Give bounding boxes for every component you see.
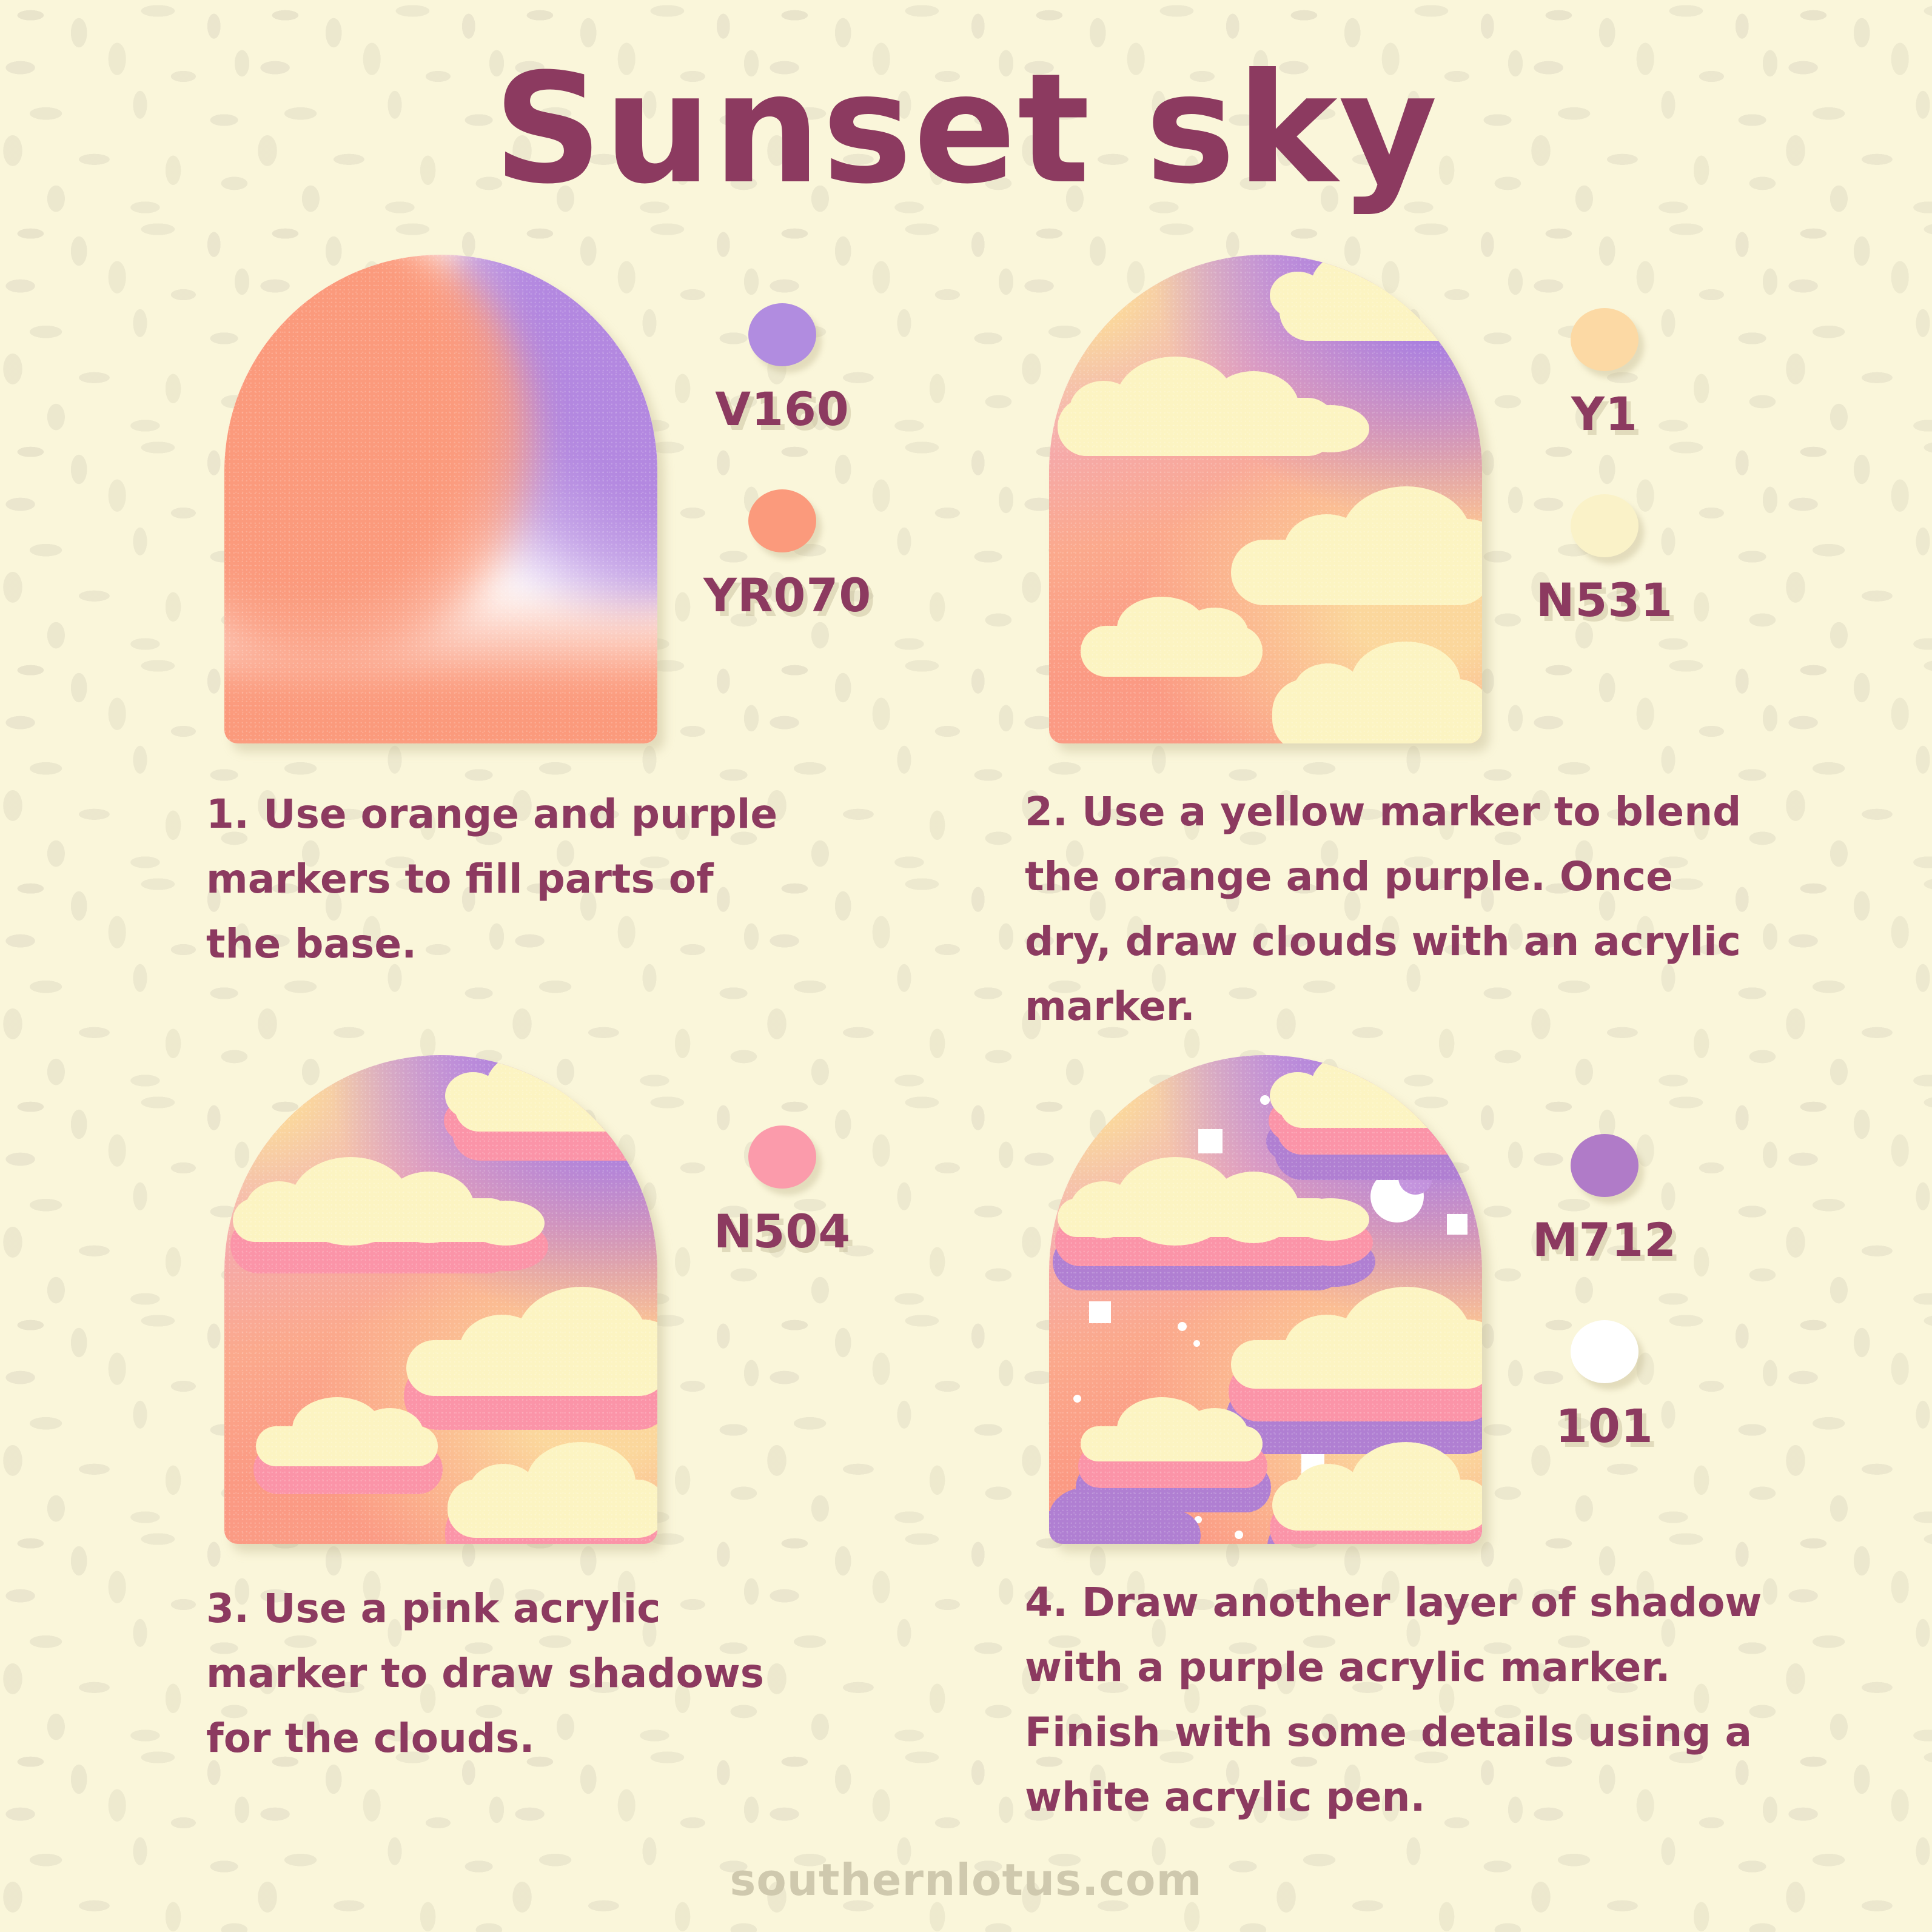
swatch-dot: [748, 303, 816, 366]
swatch-label: N531: [1526, 573, 1683, 627]
swatch-label: N504: [703, 1204, 861, 1258]
swatch-label: V160: [703, 382, 861, 436]
watermark: southernlotus.com: [0, 1854, 1932, 1905]
arch-canvas-3: [224, 1055, 657, 1544]
swatch-label: Y1: [1526, 387, 1683, 441]
swatch-pink-acrylic-marker[interactable]: N504: [703, 1125, 861, 1258]
swatch-purple-marker[interactable]: V160: [703, 303, 861, 436]
swatch-yellow-marker[interactable]: Y1: [1526, 308, 1683, 441]
swatch-cream-acrylic-marker[interactable]: N531: [1526, 494, 1683, 627]
swatch-dot: [1571, 308, 1639, 371]
page-title: Sunset sky: [0, 53, 1932, 205]
swatch-dot: [748, 489, 816, 552]
arch-canvas-4: [1049, 1055, 1482, 1544]
swatch-purple-acrylic-marker[interactable]: M712: [1526, 1134, 1683, 1267]
paper-grain: [224, 255, 657, 743]
step-2-swatches: Y1 N531: [1526, 308, 1683, 627]
swatch-dot: [1571, 1320, 1639, 1383]
arch-canvas-1: [224, 255, 657, 743]
arch-canvas-2: [1049, 255, 1482, 743]
step-3-caption: 3. Use a pink acrylic marker to draw sha…: [206, 1577, 819, 1771]
swatch-dot: [1571, 494, 1639, 557]
swatch-label: 101: [1526, 1399, 1683, 1453]
paper-grain: [1049, 255, 1482, 743]
swatch-white-acrylic-pen[interactable]: 101: [1526, 1320, 1683, 1453]
swatch-label: M712: [1526, 1213, 1683, 1267]
swatch-dot: [748, 1125, 816, 1189]
step-4-caption: 4. Draw another layer of shadow with a p…: [1025, 1571, 1765, 1830]
step-3-swatches: N504: [703, 1125, 861, 1258]
swatch-dot: [1571, 1134, 1639, 1197]
step-4-swatches: M712 101: [1526, 1134, 1683, 1453]
paper-grain: [1049, 1055, 1482, 1544]
step-1-swatches: V160 YR070: [703, 303, 861, 622]
swatch-orange-marker[interactable]: YR070: [703, 489, 861, 622]
step-2-caption: 2. Use a yellow marker to blend the oran…: [1025, 780, 1746, 1039]
swatch-label: YR070: [703, 568, 861, 622]
paper-grain: [224, 1055, 657, 1544]
step-1-caption: 1. Use orange and purple markers to fill…: [206, 782, 800, 977]
